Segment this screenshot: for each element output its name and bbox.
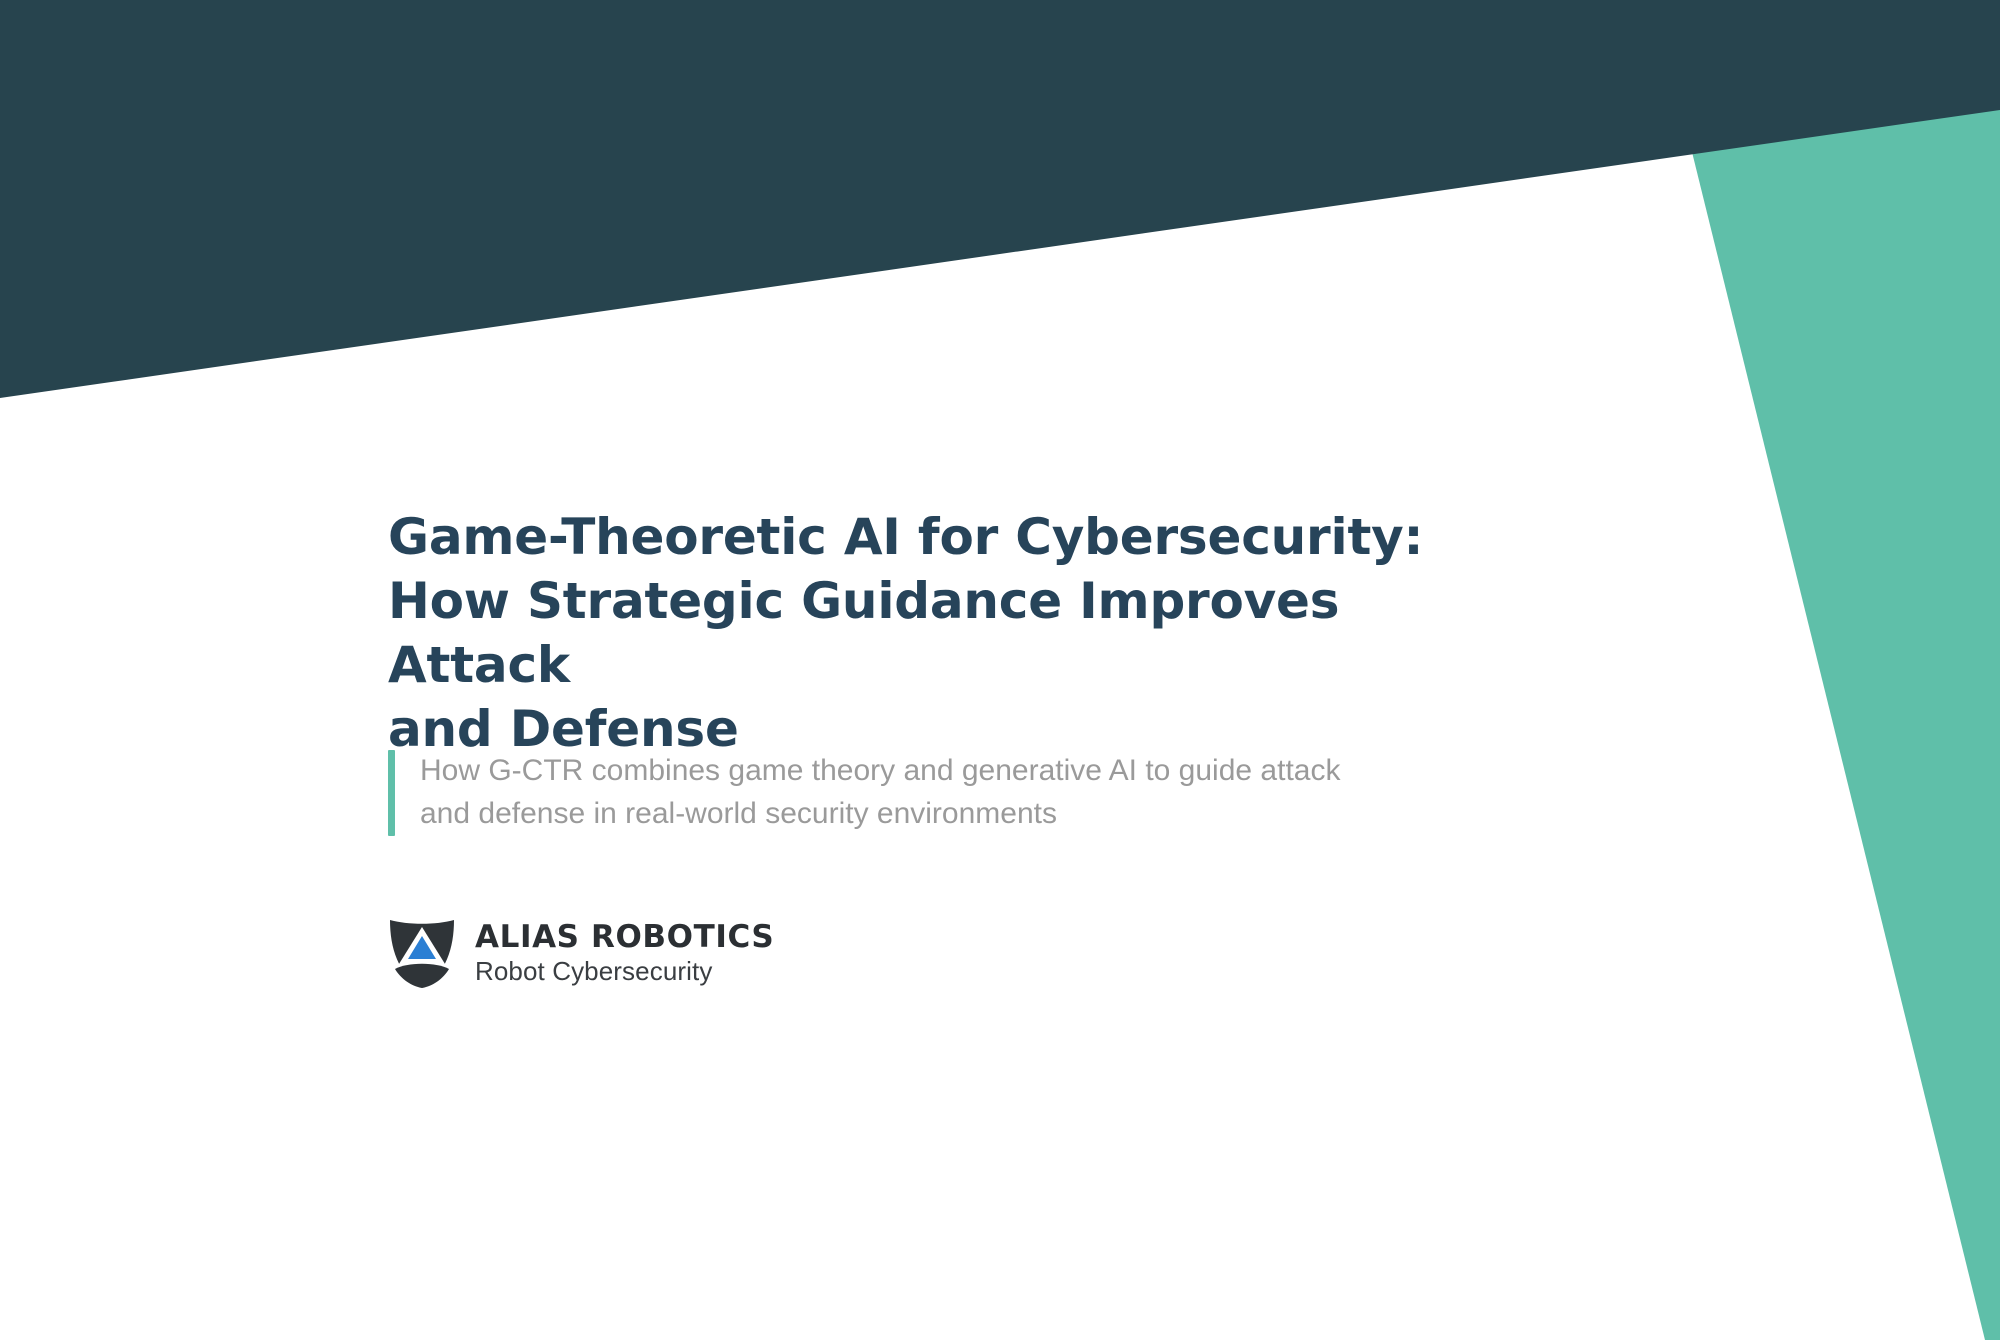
cover-slide: Game-Theoretic AI for Cybersecurity: How… xyxy=(0,0,2000,1340)
teal-diagonal-band xyxy=(1692,100,2000,1340)
title-block: Game-Theoretic AI for Cybersecurity: How… xyxy=(388,505,1448,761)
brand-tagline: Robot Cybersecurity xyxy=(475,958,774,984)
brand-logo-lockup: ALIAS ROBOTICS Robot Cybersecurity xyxy=(388,916,774,990)
page-title: Game-Theoretic AI for Cybersecurity: How… xyxy=(388,505,1448,761)
brand-name: ALIAS ROBOTICS xyxy=(475,922,774,953)
subtitle-text: How G-CTR combines game theory and gener… xyxy=(395,750,1340,836)
subtitle-accent-bar xyxy=(388,750,395,836)
subtitle-block: How G-CTR combines game theory and gener… xyxy=(388,750,1528,836)
navy-diagonal-band xyxy=(0,0,2000,398)
brand-wordmark: ALIAS ROBOTICS Robot Cybersecurity xyxy=(475,922,774,984)
alias-robotics-shield-icon xyxy=(388,916,456,990)
